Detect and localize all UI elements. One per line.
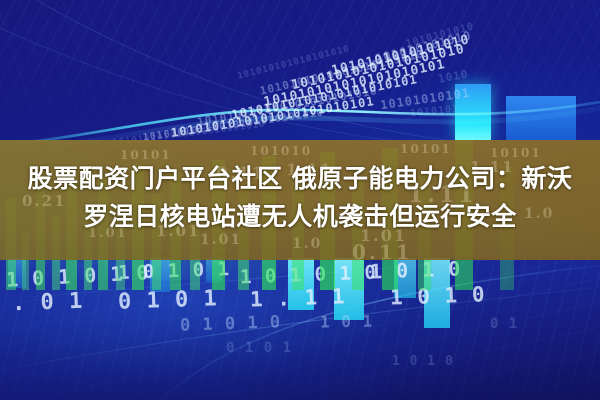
bar-cyan-bright xyxy=(455,84,491,140)
upper-wire-mesh-texture xyxy=(0,0,600,150)
lower-wire-mesh-texture xyxy=(0,258,600,400)
bar-blue-wide xyxy=(506,96,576,140)
bar-lower-6 xyxy=(150,258,170,292)
upper-bar-chart-group xyxy=(0,0,600,140)
headline-line-2: 罗涅日核电站遭无人机袭击但运行安全 xyxy=(0,198,600,236)
green-bar xyxy=(22,232,29,290)
bar-lower-1 xyxy=(288,258,314,310)
bar-lower-7 xyxy=(206,258,222,282)
binary-stream-group-upper: 101010101010101010 101010101010101010101… xyxy=(0,0,600,150)
bar-lower-5 xyxy=(8,258,26,288)
banner-image: 101010101010101010 101010101010101010101… xyxy=(0,0,600,400)
headline-line-1: 股票配资门户平台社区 俄原子能电力公司：新沃 xyxy=(0,160,600,198)
binary-stream-group-lower: 1 0 1 0 1 0 1 0 1 0 1 1 0 1 0 1 0 1 0 1 … xyxy=(0,258,600,400)
lower-bar-chart-group xyxy=(0,258,600,400)
bar-lower-3 xyxy=(394,258,416,298)
bar-lower-2 xyxy=(334,258,364,320)
bar-lower-4 xyxy=(424,258,450,328)
headline-text: 股票配资门户平台社区 俄原子能电力公司：新沃 罗涅日核电站遭无人机袭击但运行安全 xyxy=(0,160,600,236)
lower-blue-background xyxy=(0,258,600,400)
